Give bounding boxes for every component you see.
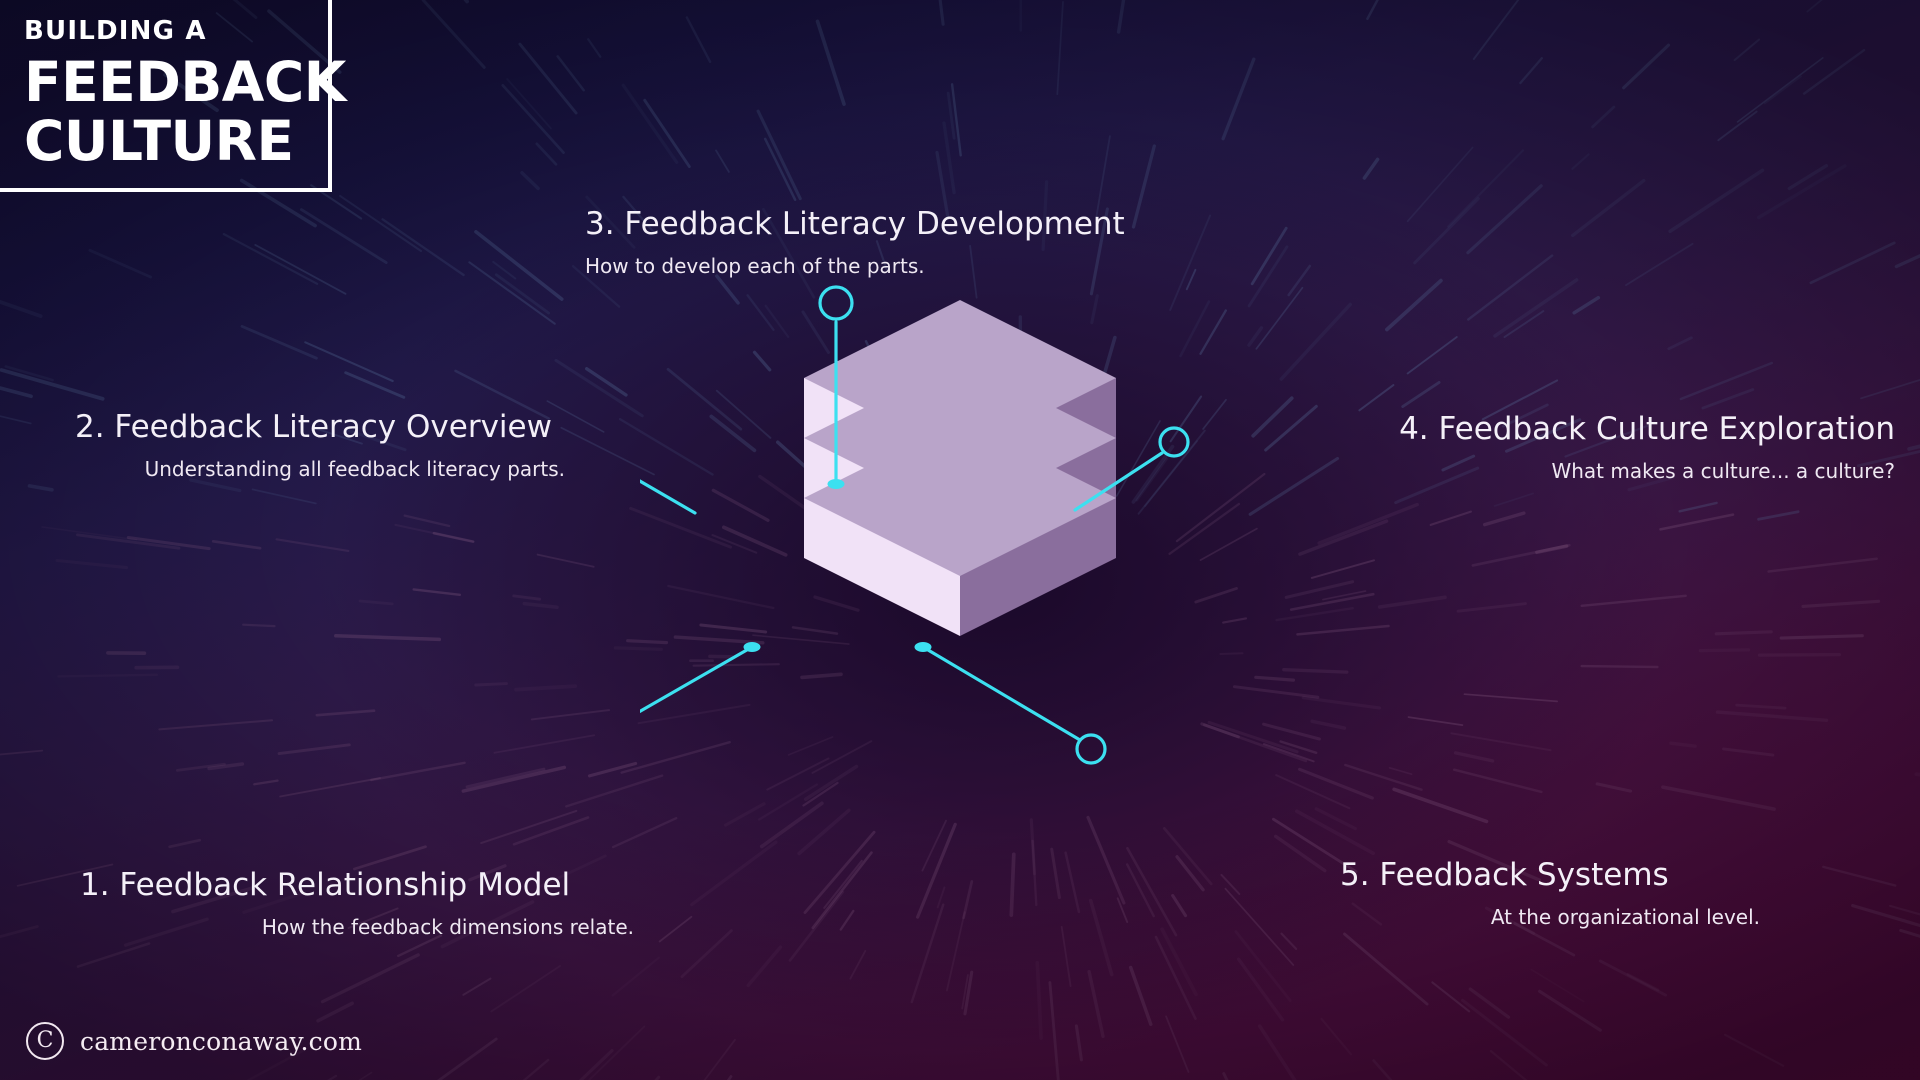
node-heading-1: 1. Feedback Relationship Model <box>80 868 700 904</box>
node-subheading-5: At the organizational level. <box>1340 905 1760 929</box>
node-label-5[interactable]: 5. Feedback Systems At the organizationa… <box>1340 858 1760 929</box>
node-heading-2: 2. Feedback Literacy Overview <box>75 410 565 446</box>
node-heading-4: 4. Feedback Culture Exploration <box>1265 412 1895 448</box>
node-heading-3: 3. Feedback Literacy Development <box>585 207 1225 243</box>
node-heading-5: 5. Feedback Systems <box>1340 858 1760 894</box>
title-line-1: FEEDBACK <box>24 53 328 112</box>
footer-credit: C cameronconaway.com <box>26 1022 362 1060</box>
node-subheading-1: How the feedback dimensions relate. <box>80 915 700 939</box>
node-label-1[interactable]: 1. Feedback Relationship Model How the f… <box>80 868 700 939</box>
node-label-3[interactable]: 3. Feedback Literacy Development How to … <box>585 207 1225 278</box>
node-label-2[interactable]: 2. Feedback Literacy Overview Understand… <box>75 410 565 481</box>
title-block: BUILDING A FEEDBACK CULTURE <box>0 0 332 192</box>
footer-url[interactable]: cameronconaway.com <box>80 1027 362 1056</box>
node-label-4[interactable]: 4. Feedback Culture Exploration What mak… <box>1265 412 1895 483</box>
node-subheading-2: Understanding all feedback literacy part… <box>75 457 565 481</box>
copyright-icon: C <box>26 1022 64 1060</box>
node-subheading-3: How to develop each of the parts. <box>585 254 1225 278</box>
title-kicker: BUILDING A <box>24 18 328 44</box>
isometric-cube-cluster <box>640 270 1280 910</box>
node-subheading-4: What makes a culture... a culture? <box>1265 459 1895 483</box>
title-line-2: CULTURE <box>24 112 328 171</box>
infographic-canvas: BUILDING A FEEDBACK CULTURE 3. Feedback … <box>0 0 1920 1080</box>
